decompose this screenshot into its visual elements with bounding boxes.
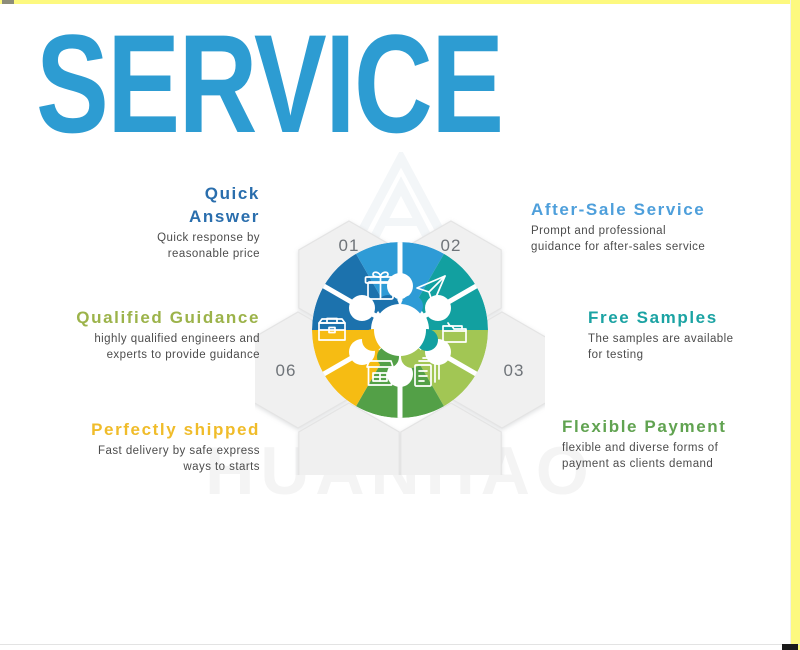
top-left-marker xyxy=(2,0,14,4)
right-border-strip xyxy=(791,0,800,650)
hexagon-number-06: 06 xyxy=(276,361,297,380)
hexagon-number-03: 03 xyxy=(504,361,525,380)
feature-body-quick-answer: Quick response by reasonable price xyxy=(60,231,260,262)
bottom-divider-line xyxy=(0,644,800,645)
feature-block-flexible-payment: Flexible Payment flexible and diverse fo… xyxy=(562,415,787,472)
feature-block-free-samples: Free Samples The samples are available f… xyxy=(588,306,788,363)
feature-block-perfectly-shipped: Perfectly shipped Fast delivery by safe … xyxy=(50,418,260,475)
feature-body-free-samples: The samples are available for testing xyxy=(588,332,788,363)
feature-body-after-sale-service: Prompt and professional guidance for aft… xyxy=(531,224,781,255)
feature-body-qualified-guidance: highly qualified engineers and experts t… xyxy=(18,332,260,363)
top-border-strip xyxy=(0,0,800,4)
feature-heading-flexible-payment: Flexible Payment xyxy=(562,415,787,438)
bottom-right-marker xyxy=(782,644,798,650)
feature-body-flexible-payment: flexible and diverse forms of payment as… xyxy=(562,441,787,472)
feature-heading-qualified-guidance: Qualified Guidance xyxy=(18,306,260,329)
slide-canvas: SERVICE HUANHAO xyxy=(0,0,800,650)
feature-heading-perfectly-shipped: Perfectly shipped xyxy=(50,418,260,441)
hexagon-number-02: 02 xyxy=(441,236,462,255)
hexagon-number-01: 01 xyxy=(339,236,360,255)
feature-block-qualified-guidance: Qualified Guidance highly qualified engi… xyxy=(18,306,260,363)
feature-body-perfectly-shipped: Fast delivery by safe express ways to st… xyxy=(50,444,260,475)
feature-heading-free-samples: Free Samples xyxy=(588,306,788,329)
hexagon-process-diagram: 01 02 03 04 05 06 xyxy=(255,185,545,475)
page-title: SERVICE xyxy=(36,14,503,154)
feature-heading-quick-answer: Quick Answer xyxy=(60,182,260,228)
feature-heading-after-sale-service: After-Sale Service xyxy=(531,198,781,221)
feature-block-quick-answer: Quick Answer Quick response by reasonabl… xyxy=(60,182,260,262)
feature-block-after-sale-service: After-Sale Service Prompt and profession… xyxy=(531,198,781,255)
